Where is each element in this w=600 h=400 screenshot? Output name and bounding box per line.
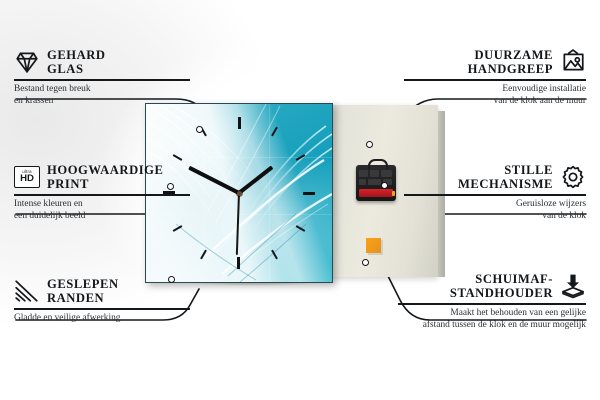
- diagonal-lines-icon: [14, 278, 40, 304]
- callout-dot-mech: [381, 182, 388, 189]
- hanging-picture-frame-icon: [560, 49, 586, 75]
- feature-title: HOOGWAARDIGE PRINT: [47, 163, 163, 191]
- feature-duurzame-handgreep: DUURZAME HANDGREEP Eenvoudige installati…: [404, 48, 586, 107]
- callout-dot-handle: [366, 141, 373, 148]
- infographic-canvas: GEHARD GLAS Bestand tegen breuk en krass…: [0, 0, 600, 400]
- clock-center-hub: [237, 191, 242, 196]
- feature-subtitle: Gladde en veilige afwerking: [14, 313, 190, 324]
- feature-hoogwaardige-print: ultra HD HOOGWAARDIGE PRINT Intense kleu…: [14, 163, 190, 222]
- ultra-hd-badge-icon: ultra HD: [14, 166, 40, 188]
- diamond-icon: [14, 49, 40, 75]
- feature-subtitle: Maakt het behouden van een gelijke afsta…: [398, 308, 586, 331]
- feature-rule: [404, 194, 586, 196]
- feature-title: GESLEPEN RANDEN: [47, 277, 119, 305]
- feature-title: DUURZAME HANDGREEP: [468, 48, 553, 76]
- feature-stille-mechanisme: STILLE MECHANISME Geruisloze wijzers van…: [404, 163, 586, 222]
- feature-rule: [404, 79, 586, 81]
- feature-subtitle: Bestand tegen breuk en krassen: [14, 84, 190, 107]
- arrow-down-onto-pad-icon: [560, 273, 586, 299]
- callout-dot-foam: [362, 259, 369, 266]
- feature-title: GEHARD GLAS: [47, 48, 106, 76]
- feature-subtitle: Eenvoudige installatie van de klok aan d…: [404, 84, 586, 107]
- feature-rule: [14, 194, 190, 196]
- movement-hanger-icon: [368, 159, 388, 169]
- ultra-hd-main-label: HD: [20, 174, 34, 184]
- foam-spacer-pad: [366, 238, 381, 253]
- aa-battery: [359, 189, 393, 197]
- feature-rule: [14, 308, 190, 310]
- quartz-movement: [356, 165, 396, 201]
- feature-title: SCHUIMAF- STANDHOUDER: [450, 272, 553, 300]
- feature-schuimaf-standhouder: SCHUIMAF- STANDHOUDER Maakt het behouden…: [398, 272, 586, 331]
- feature-rule: [398, 303, 586, 305]
- feature-title: STILLE MECHANISME: [458, 163, 553, 191]
- feature-subtitle: Geruisloze wijzers van de klok: [404, 199, 586, 222]
- gear-icon: [560, 164, 586, 190]
- feature-gehard-glas: GEHARD GLAS Bestand tegen breuk en krass…: [14, 48, 190, 107]
- callout-dot-glass: [196, 126, 203, 133]
- feature-subtitle: Intense kleuren en een duidelijk beeld: [14, 199, 190, 222]
- movement-body-detail: [359, 170, 393, 186]
- feature-rule: [14, 79, 190, 81]
- feature-geslepen-randen: GESLEPEN RANDEN Gladde en veilige afwerk…: [14, 277, 190, 325]
